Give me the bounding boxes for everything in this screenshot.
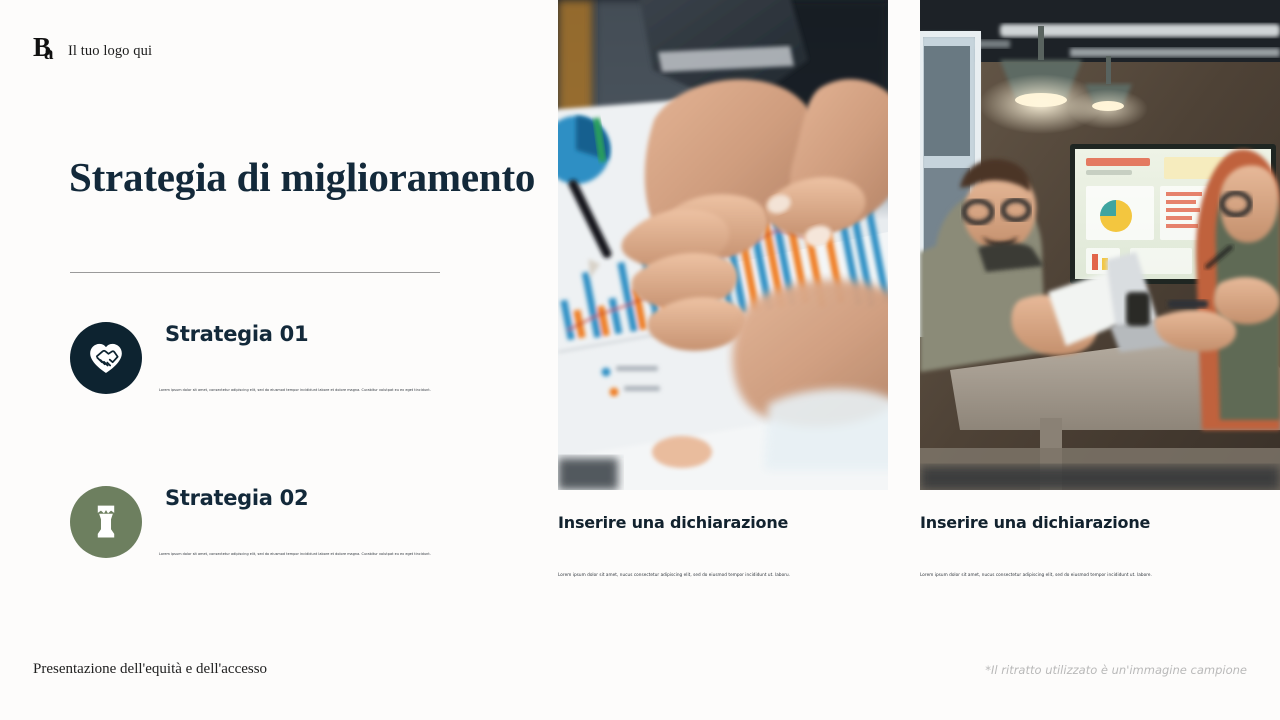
photo-meeting-caption-title: Inserire una dichiarazione <box>920 513 1150 532</box>
logo-monogram-icon: B a <box>33 36 61 66</box>
title-divider <box>70 272 440 273</box>
page-title: Strategia di miglioramento <box>69 155 535 200</box>
photo-charts <box>558 0 888 490</box>
presentation-slide: B a Il tuo logo qui Strategia di miglior… <box>0 0 1280 720</box>
strategy-02-label: Strategia 02 <box>165 486 308 510</box>
strategy-item-01: Strategia 01 Lorem ipsum dolor sit amet,… <box>70 322 490 432</box>
strategy-01-body: Lorem ipsum dolor sit amet, consectetur … <box>159 388 489 393</box>
photo-meeting-caption-body: Lorem ipsum dolor sit amet, nucus consec… <box>920 572 1220 578</box>
strategy-01-label: Strategia 01 <box>165 322 308 346</box>
strategy-02-badge <box>70 486 142 558</box>
logo-placeholder-text: Il tuo logo qui <box>68 43 152 60</box>
photo-meeting <box>920 0 1280 490</box>
brand-logo[interactable]: B a Il tuo logo qui <box>33 36 152 66</box>
strategy-01-badge <box>70 322 142 394</box>
photo-charts-illustration <box>558 0 888 490</box>
photo-charts-caption-body: Lorem ipsum dolor sit amet, nucus consec… <box>558 572 858 578</box>
strategy-02-body: Lorem ipsum dolor sit amet, consectetur … <box>159 552 489 557</box>
photo-charts-caption-title: Inserire una dichiarazione <box>558 513 788 532</box>
logo-monogram-a: a <box>44 44 54 63</box>
handshake-heart-icon <box>86 338 126 378</box>
strategy-item-02: Strategia 02 Lorem ipsum dolor sit amet,… <box>70 486 490 596</box>
footer-deck-title: Presentazione dell'equità e dell'accesso <box>33 661 267 678</box>
footer-disclaimer: *Il ritratto utilizzato è un'immagine ca… <box>985 663 1247 677</box>
chess-rook-icon <box>87 501 125 543</box>
photo-meeting-illustration <box>920 0 1280 490</box>
